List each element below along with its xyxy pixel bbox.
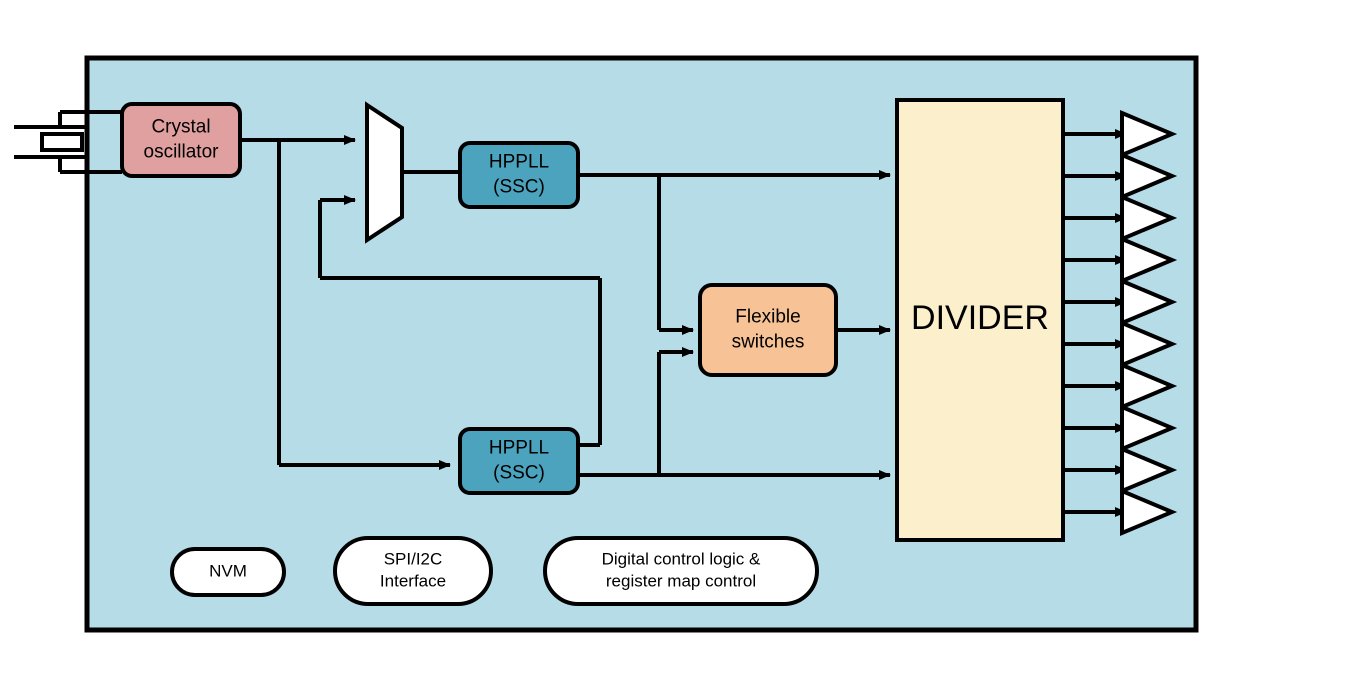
- diagram-canvas: CrystaloscillatorHPPLL(SSC)HPPLL(SSC)Fle…: [0, 0, 1355, 685]
- hppll-top-block-label-2: (SSC): [493, 177, 545, 198]
- spi-i2c-interface-pill-label-1: SPI/I2C: [384, 549, 443, 568]
- input-multiplexer[interactable]: [367, 105, 402, 240]
- flexible-switches-block[interactable]: [700, 285, 836, 375]
- crystal-oscillator-block[interactable]: [122, 104, 240, 176]
- nvm-pill-label-1: NVM: [209, 561, 247, 580]
- crystal-oscillator-block-label-2: oscillator: [144, 142, 220, 163]
- crystal-oscillator-block-label-1: Crystal: [151, 117, 210, 138]
- hppll-bottom-block-label-2: (SSC): [493, 463, 545, 484]
- block-diagram-svg: CrystaloscillatorHPPLL(SSC)HPPLL(SSC)Fle…: [0, 0, 1355, 685]
- crystal-body-icon: [42, 134, 82, 150]
- divider-block-label-1: DIVIDER: [911, 299, 1049, 337]
- flexible-switches-block-label-2: switches: [732, 332, 805, 353]
- spi-i2c-interface-pill-label-2: Interface: [380, 571, 446, 590]
- digital-control-logic-pill-label-2: register map control: [606, 571, 756, 590]
- hppll-bottom-block-label-1: HPPLL: [489, 438, 549, 459]
- flexible-switches-block-label-1: Flexible: [735, 307, 800, 328]
- hppll-top-block-label-1: HPPLL: [489, 152, 549, 173]
- digital-control-logic-pill-label-1: Digital control logic &: [602, 549, 761, 568]
